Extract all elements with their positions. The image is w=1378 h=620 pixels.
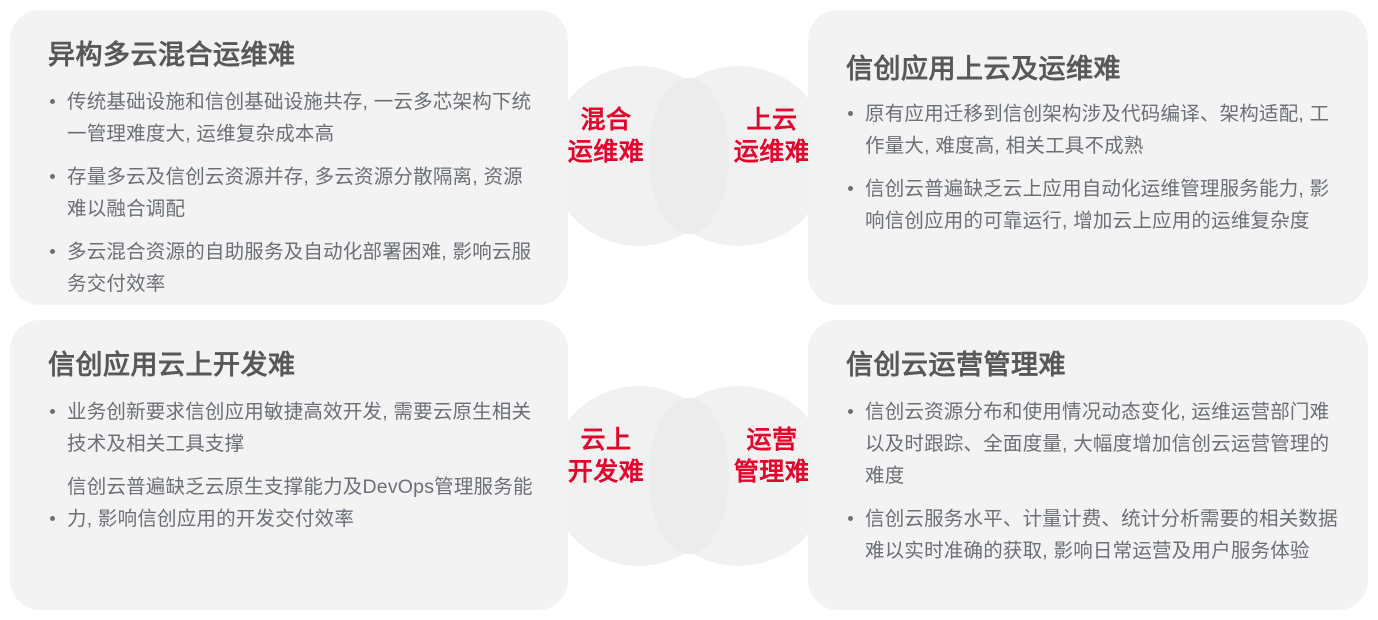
infographic-canvas: 混合 运维难 上云 运维难 云上 开发难 运营 管理难 异构多云混合运维难 传统… <box>0 0 1378 620</box>
bullet-text: 信创云普遍缺乏云原生支撑能力及DevOps管理服务能力, 影响信创应用的开发交付… <box>67 471 538 535</box>
bullet-text: 传统基础设施和信创基础设施共存, 一云多芯架构下统一管理难度大, 运维复杂成本高 <box>67 86 538 150</box>
bullet-text: 信创云普遍缺乏云上应用自动化运维管理服务能力, 影响信创应用的可靠运行, 增加云… <box>865 173 1338 237</box>
panel-title: 异构多云混合运维难 <box>48 38 538 72</box>
bullet-item: 原有应用迁移到信创架构涉及代码编译、架构适配, 工作量大, 难度高, 相关工具不… <box>846 98 1338 162</box>
panel-app-cloud-migration-ops: 信创应用上云及运维难 原有应用迁移到信创架构涉及代码编译、架构适配, 工作量大,… <box>808 10 1368 305</box>
bullet-text: 业务创新要求信创应用敏捷高效开发, 需要云原生相关技术及相关工具支撑 <box>67 396 538 460</box>
bullet-item: 存量多云及信创云资源并存, 多云资源分散隔离, 资源难以融合调配 <box>48 161 538 225</box>
bullet-list: 业务创新要求信创应用敏捷高效开发, 需要云原生相关技术及相关工具支撑 信创云普遍… <box>48 396 538 535</box>
bullet-item: 多云混合资源的自助服务及自动化部署困难, 影响云服务交付效率 <box>48 236 538 300</box>
panel-title: 信创应用云上开发难 <box>48 348 538 382</box>
bullet-dot-icon <box>50 516 55 521</box>
bullet-item: 业务创新要求信创应用敏捷高效开发, 需要云原生相关技术及相关工具支撑 <box>48 396 538 460</box>
bullet-dot-icon <box>50 174 55 179</box>
bullet-dot-icon <box>50 99 55 104</box>
panel-app-cloud-development: 信创应用云上开发难 业务创新要求信创应用敏捷高效开发, 需要云原生相关技术及相关… <box>10 320 568 610</box>
bullet-item: 信创云普遍缺乏云原生支撑能力及DevOps管理服务能力, 影响信创应用的开发交付… <box>48 471 538 535</box>
bullet-text: 存量多云及信创云资源并存, 多云资源分散隔离, 资源难以融合调配 <box>67 161 538 225</box>
bullet-text: 多云混合资源的自助服务及自动化部署困难, 影响云服务交付效率 <box>67 236 538 300</box>
bullet-text: 信创云服务水平、计量计费、统计分析需要的相关数据难以实时准确的获取, 影响日常运… <box>865 503 1338 567</box>
bullet-item: 信创云资源分布和使用情况动态变化, 运维运营部门难以及时跟踪、全面度量, 大幅度… <box>846 396 1338 492</box>
bullet-dot-icon <box>848 409 853 414</box>
bullet-dot-icon <box>50 409 55 414</box>
bullet-text: 信创云资源分布和使用情况动态变化, 运维运营部门难以及时跟踪、全面度量, 大幅度… <box>865 396 1338 492</box>
bullet-dot-icon <box>848 516 853 521</box>
venn-diagram-top: 混合 运维难 上云 运维难 <box>549 66 829 246</box>
panel-hybrid-multicloud-ops: 异构多云混合运维难 传统基础设施和信创基础设施共存, 一云多芯架构下统一管理难度… <box>10 10 568 305</box>
bullet-list: 原有应用迁移到信创架构涉及代码编译、架构适配, 工作量大, 难度高, 相关工具不… <box>846 98 1338 237</box>
bullet-list: 传统基础设施和信创基础设施共存, 一云多芯架构下统一管理难度大, 运维复杂成本高… <box>48 86 538 300</box>
bullet-text: 原有应用迁移到信创架构涉及代码编译、架构适配, 工作量大, 难度高, 相关工具不… <box>865 98 1338 162</box>
venn-diagram-bottom: 云上 开发难 运营 管理难 <box>549 386 829 566</box>
panel-title: 信创应用上云及运维难 <box>846 52 1338 86</box>
panel-cloud-operations-management: 信创云运营管理难 信创云资源分布和使用情况动态变化, 运维运营部门难以及时跟踪、… <box>808 320 1368 610</box>
bullet-dot-icon <box>50 249 55 254</box>
bullet-item: 信创云普遍缺乏云上应用自动化运维管理服务能力, 影响信创应用的可靠运行, 增加云… <box>846 173 1338 237</box>
bullet-dot-icon <box>848 111 853 116</box>
bullet-list: 信创云资源分布和使用情况动态变化, 运维运营部门难以及时跟踪、全面度量, 大幅度… <box>846 396 1338 567</box>
bullet-dot-icon <box>848 186 853 191</box>
bullet-item: 信创云服务水平、计量计费、统计分析需要的相关数据难以实时准确的获取, 影响日常运… <box>846 503 1338 567</box>
bullet-item: 传统基础设施和信创基础设施共存, 一云多芯架构下统一管理难度大, 运维复杂成本高 <box>48 86 538 150</box>
panel-title: 信创云运营管理难 <box>846 348 1338 382</box>
